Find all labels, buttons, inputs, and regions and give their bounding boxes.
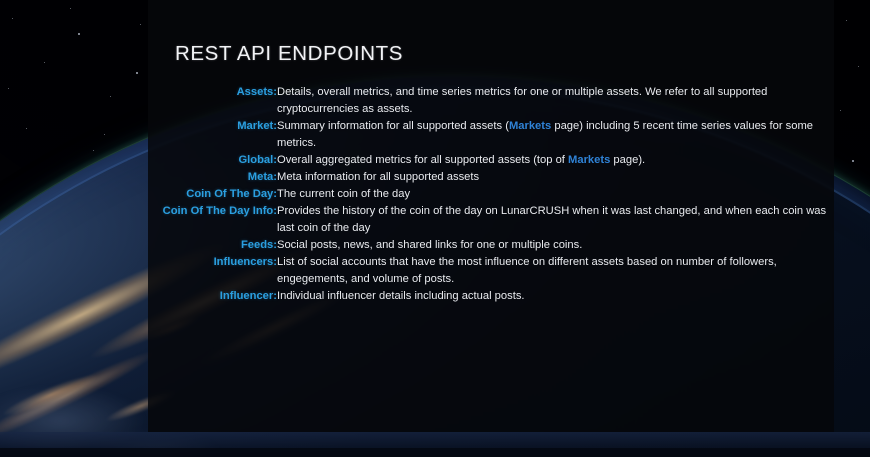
description-text: Provides the history of the coin of the … (277, 205, 826, 234)
endpoint-label[interactable]: Coin Of The Day Info: (148, 203, 277, 237)
endpoint-label[interactable]: Market: (148, 118, 277, 152)
endpoint-description: Summary information for all supported as… (277, 118, 834, 152)
endpoint-label[interactable]: Influencer: (148, 288, 277, 305)
endpoint-description: The current coin of the day (277, 186, 834, 203)
endpoint-row: Feeds:Social posts, news, and shared lin… (148, 237, 834, 254)
description-text: Summary information for all supported as… (277, 120, 509, 132)
slide-stage: REST API ENDPOINTS Assets:Details, overa… (0, 0, 870, 457)
description-text: Details, overall metrics, and time serie… (277, 86, 767, 115)
endpoint-row: Coin Of The Day:The current coin of the … (148, 186, 834, 203)
endpoint-description: Individual influencer details including … (277, 288, 834, 305)
content-area: REST API ENDPOINTS Assets:Details, overa… (148, 0, 834, 432)
endpoint-label[interactable]: Meta: (148, 169, 277, 186)
endpoint-description: List of social accounts that have the mo… (277, 254, 834, 288)
description-text: Overall aggregated metrics for all suppo… (277, 154, 568, 166)
endpoint-description: Overall aggregated metrics for all suppo… (277, 152, 834, 169)
endpoints-table: Assets:Details, overall metrics, and tim… (148, 84, 834, 305)
bottom-dark-strip (0, 448, 870, 457)
endpoint-row: Coin Of The Day Info:Provides the histor… (148, 203, 834, 237)
description-text: List of social accounts that have the mo… (277, 256, 777, 285)
endpoint-description: Meta information for all supported asset… (277, 169, 834, 186)
endpoint-row: Global:Overall aggregated metrics for al… (148, 152, 834, 169)
description-text: Meta information for all supported asset… (277, 171, 479, 183)
endpoint-label[interactable]: Global: (148, 152, 277, 169)
markets-link[interactable]: Markets (509, 120, 551, 132)
endpoint-description: Provides the history of the coin of the … (277, 203, 834, 237)
endpoint-label[interactable]: Feeds: (148, 237, 277, 254)
endpoint-row: Market:Summary information for all suppo… (148, 118, 834, 152)
endpoints-table-body: Assets:Details, overall metrics, and tim… (148, 84, 834, 305)
endpoint-label[interactable]: Assets: (148, 84, 277, 118)
page-title: REST API ENDPOINTS (175, 42, 403, 66)
description-text: page). (610, 154, 645, 166)
description-text: The current coin of the day (277, 188, 410, 200)
markets-link[interactable]: Markets (568, 154, 610, 166)
endpoint-description: Social posts, news, and shared links for… (277, 237, 834, 254)
endpoint-label[interactable]: Influencers: (148, 254, 277, 288)
description-text: Individual influencer details including … (277, 290, 525, 302)
endpoint-row: Influencers:List of social accounts that… (148, 254, 834, 288)
description-text: Social posts, news, and shared links for… (277, 239, 582, 251)
endpoint-description: Details, overall metrics, and time serie… (277, 84, 834, 118)
endpoint-label[interactable]: Coin Of The Day: (148, 186, 277, 203)
endpoint-row: Assets:Details, overall metrics, and tim… (148, 84, 834, 118)
endpoint-row: Influencer:Individual influencer details… (148, 288, 834, 305)
endpoint-row: Meta:Meta information for all supported … (148, 169, 834, 186)
